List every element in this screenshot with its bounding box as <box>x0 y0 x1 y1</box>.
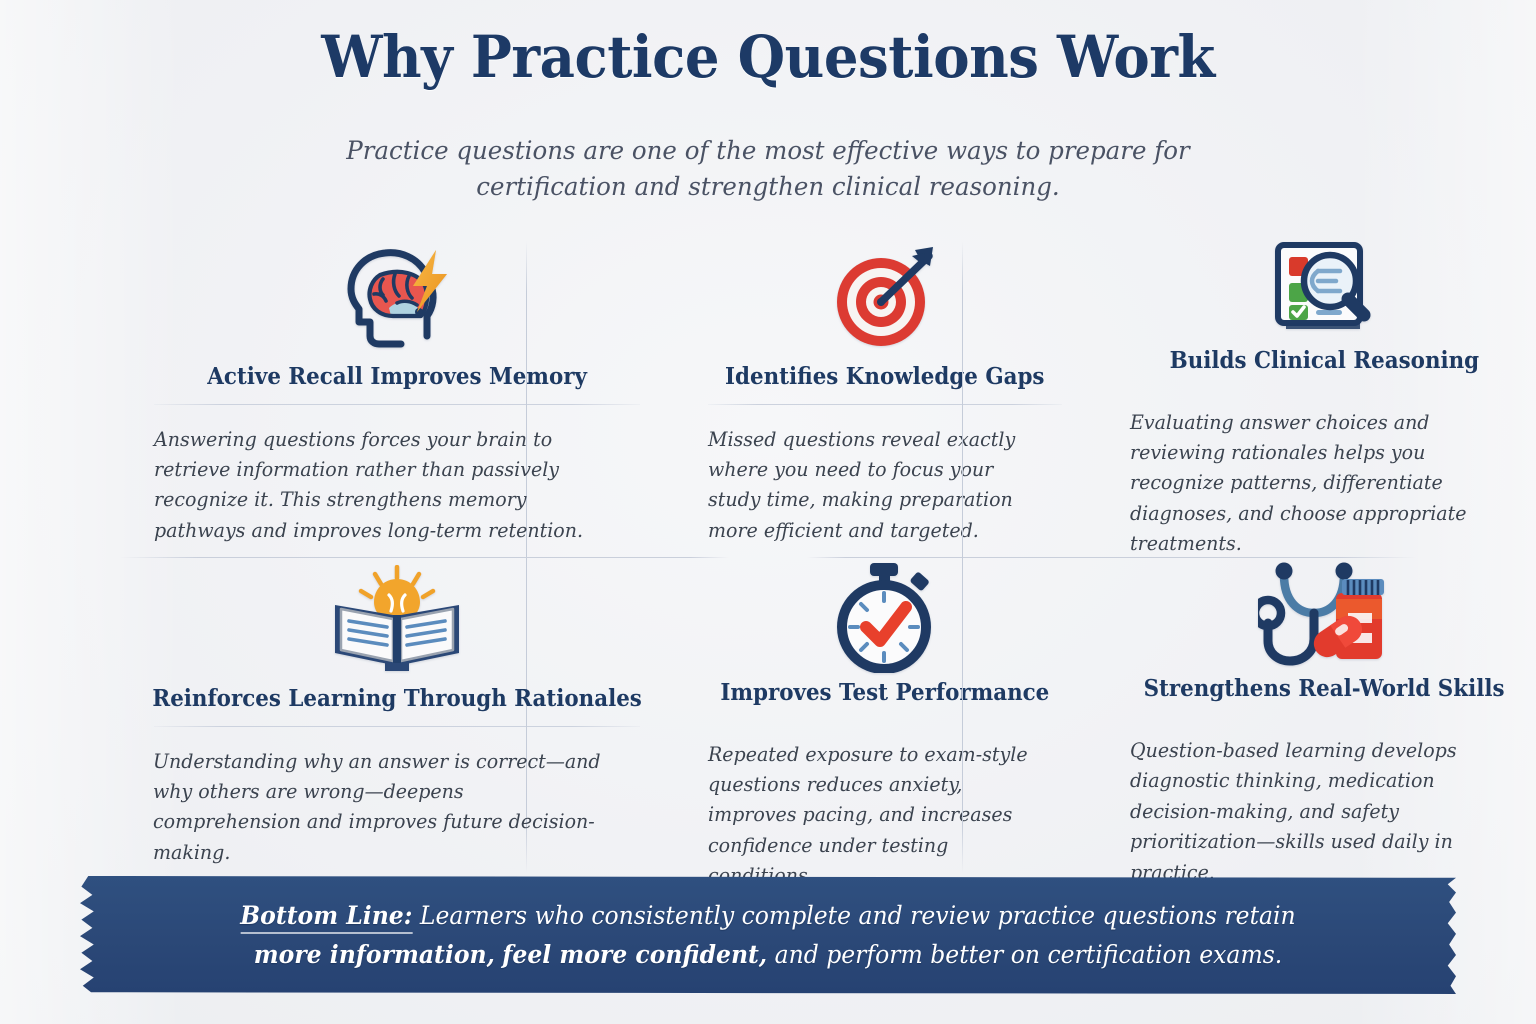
card-body: Question-based learning develops diagnos… <box>1130 735 1499 887</box>
header: Why Practice Questions Work Practice que… <box>0 0 1536 205</box>
benefit-card-test-performance: Improves Test Performance Repeated expos… <box>674 557 1096 887</box>
benefit-card-knowledge-gaps: Identifies Knowledge Gaps Missed questio… <box>674 235 1096 557</box>
card-body: Answering questions forces your brain to… <box>154 424 616 546</box>
bottom-line-banner: Bottom Line: Learners who consistently c… <box>80 876 1456 994</box>
book-lightbulb-icon <box>327 561 467 679</box>
benefit-card-rationales: Reinforces Learning Through Rationales U… <box>120 557 674 887</box>
benefits-grid: Active Recall Improves Memory Answering … <box>120 235 1416 887</box>
banner-part-1: Learners who consistently complete and r… <box>412 901 1295 930</box>
page-title: Why Practice Questions Work <box>46 26 1490 89</box>
card-body: Repeated exposure to exam-style question… <box>708 739 1044 891</box>
card-body: Understanding why an answer is correct—a… <box>134 746 634 868</box>
benefit-card-clinical-reasoning: Builds Clinical Reasoning Evaluating ans… <box>1096 235 1536 557</box>
banner-surface: Bottom Line: Learners who consistently c… <box>80 876 1456 994</box>
checklist-magnifier-icon <box>1268 239 1380 341</box>
card-divider <box>708 404 1062 405</box>
card-title: Identifies Knowledge Gaps <box>725 363 1044 391</box>
card-title: Builds Clinical Reasoning <box>1169 347 1478 375</box>
banner-text: Bottom Line: Learners who consistently c… <box>204 896 1332 974</box>
page-subtitle: Practice questions are one of the most e… <box>307 133 1229 205</box>
brain-lightning-icon <box>339 239 455 357</box>
banner-bold-1: more information, <box>254 940 495 969</box>
infographic-page: Why Practice Questions Work Practice que… <box>0 0 1536 1024</box>
banner-bold-2: feel more confident, <box>502 940 767 969</box>
stethoscope-medication-icon <box>1258 561 1390 669</box>
card-title: Active Recall Improves Memory <box>207 363 587 391</box>
card-title: Reinforces Learning Through Rationales <box>152 685 641 713</box>
title-underline-rule <box>373 98 1163 103</box>
card-title: Strengthens Real-World Skills <box>1144 675 1505 703</box>
banner-part-3: and perform better on certification exam… <box>767 940 1282 969</box>
target-dart-icon <box>829 239 941 357</box>
card-title: Improves Test Performance <box>721 679 1050 707</box>
card-body: Evaluating answer choices and reviewing … <box>1130 407 1499 559</box>
stopwatch-check-icon <box>828 561 942 673</box>
benefit-card-real-world-skills: Strengthens Real-World Skills Question-b… <box>1096 557 1536 887</box>
card-divider <box>154 726 640 727</box>
card-divider <box>154 404 640 405</box>
card-body: Missed questions reveal exactly where yo… <box>708 424 1044 546</box>
benefit-card-active-recall: Active Recall Improves Memory Answering … <box>120 235 674 557</box>
banner-lead-label: Bottom Line: <box>240 901 412 934</box>
